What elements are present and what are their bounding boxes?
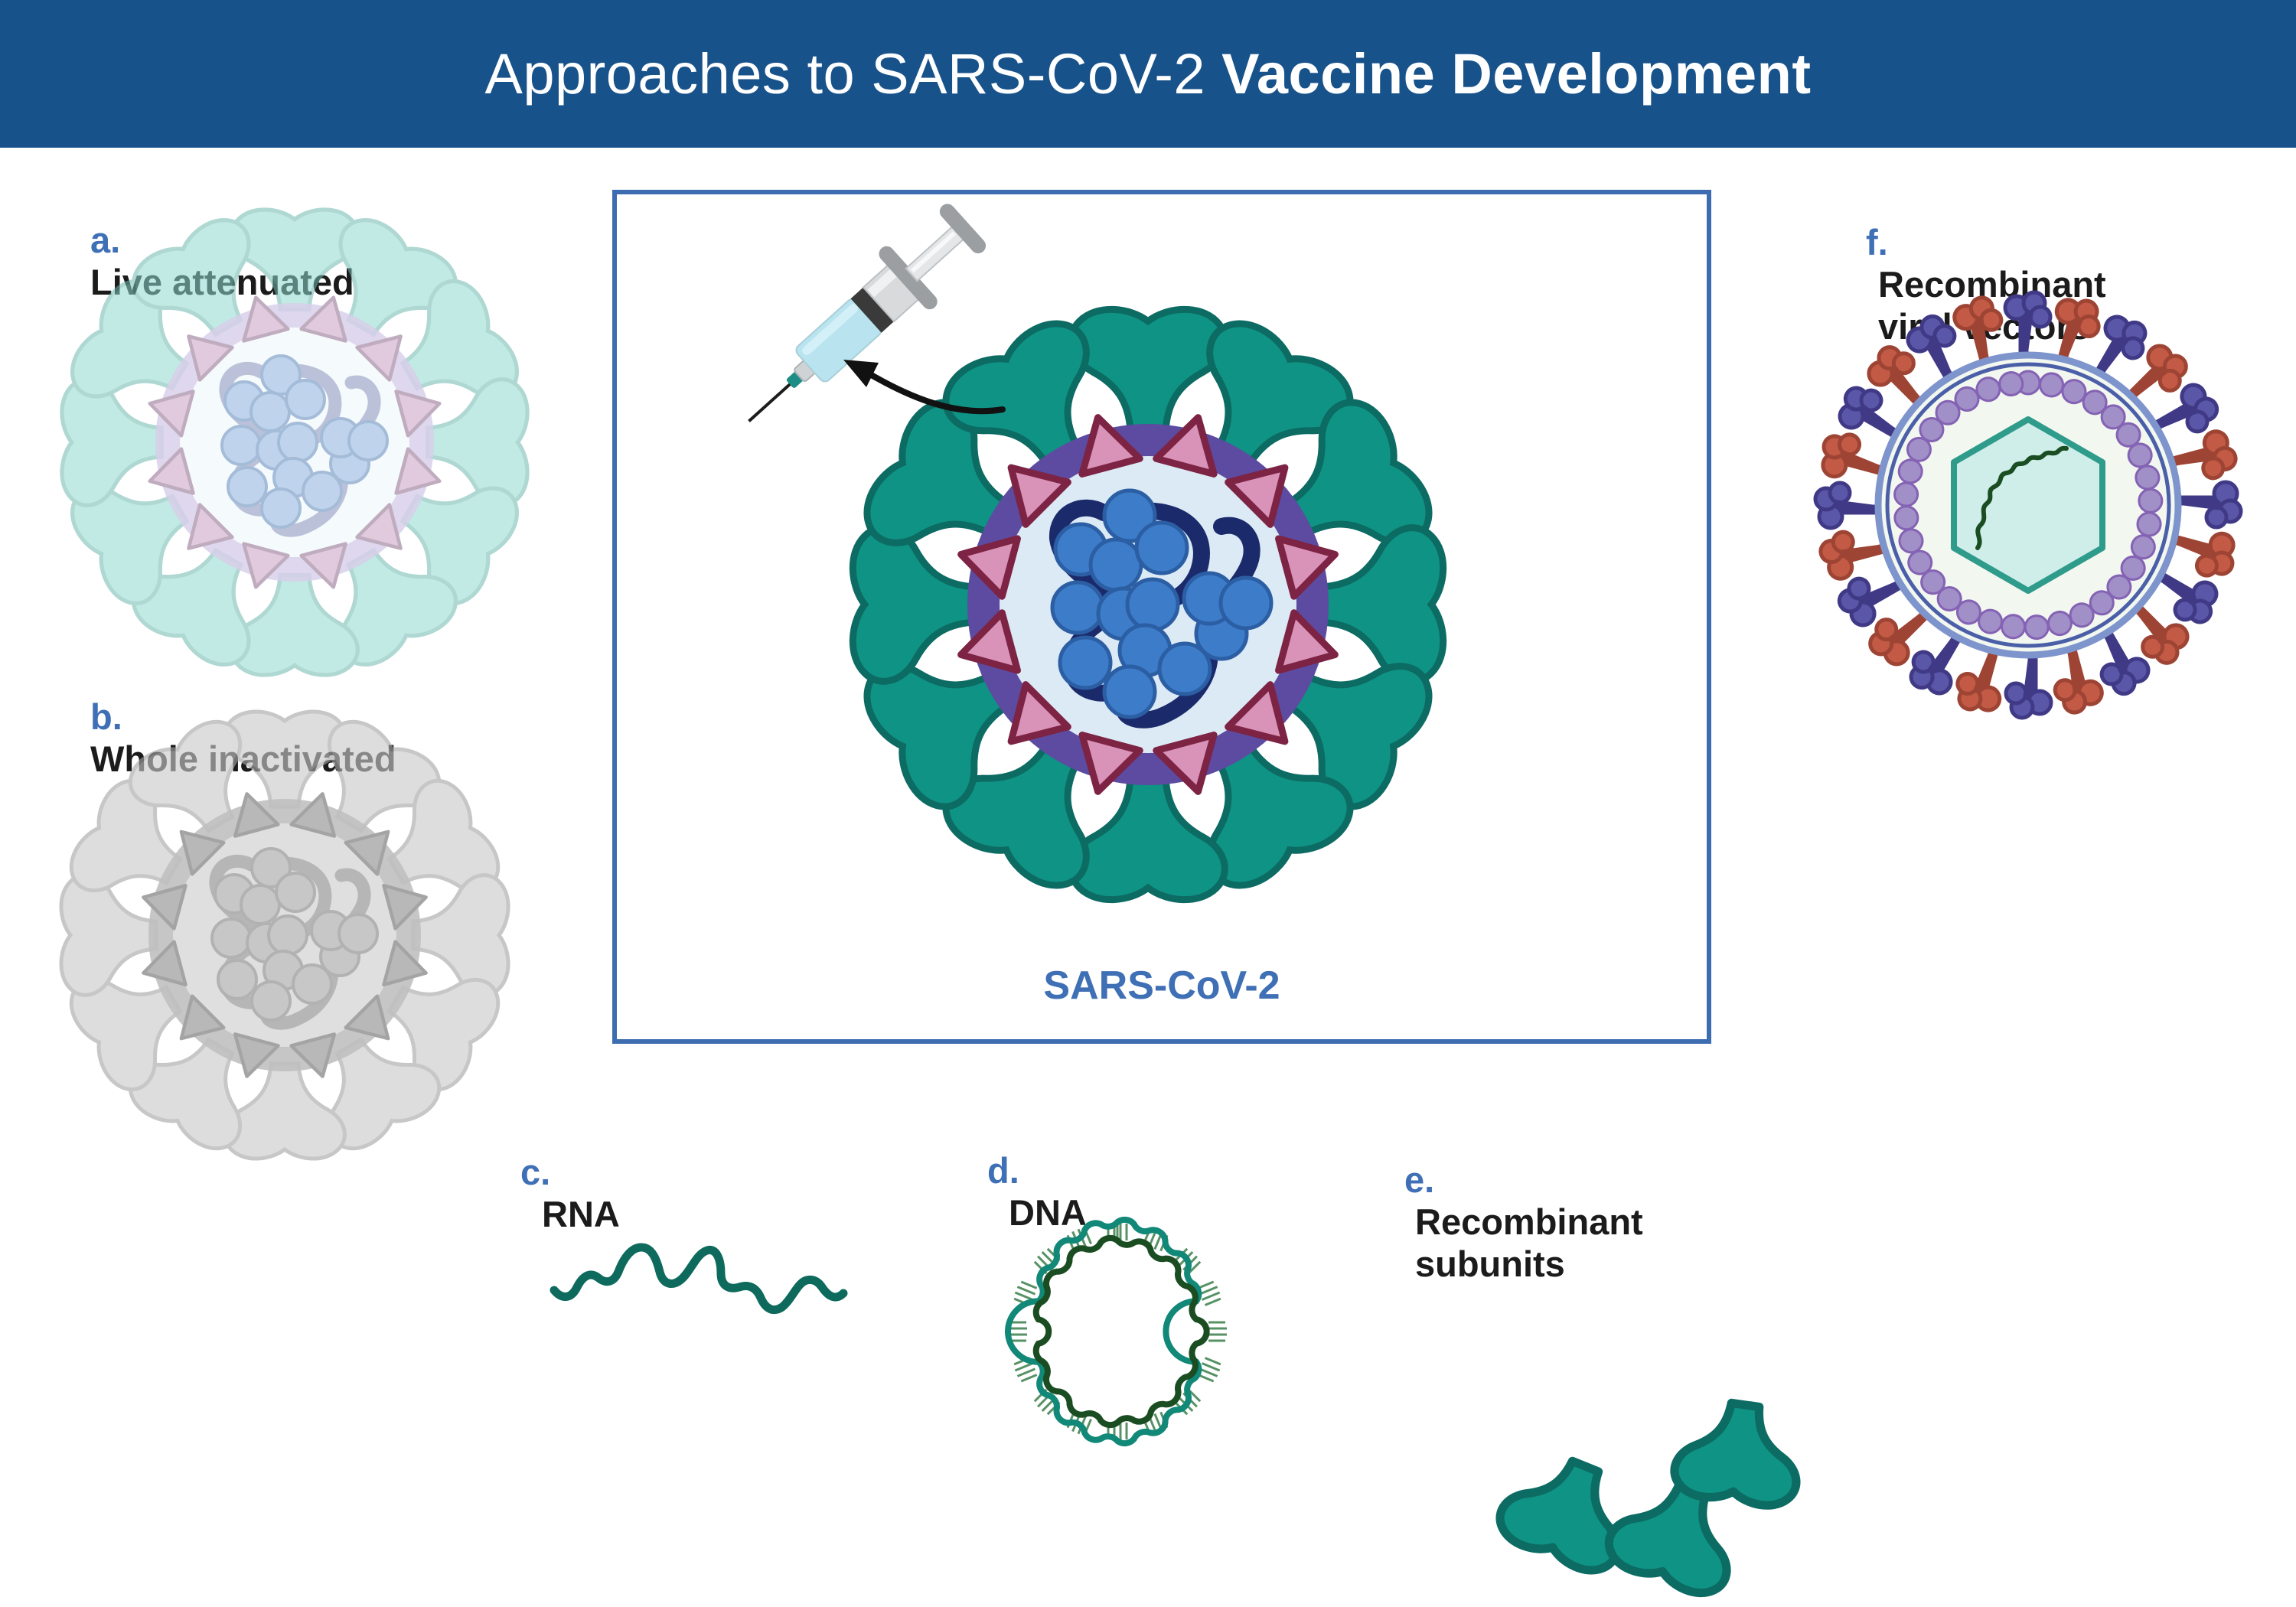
title-regular: Approaches to SARS-CoV-2 [484, 41, 1205, 106]
recombinant-viral-vector-particle [1814, 291, 2242, 719]
panel-letter-f: f. [1866, 222, 1888, 262]
inactivated-virion [84, 735, 482, 1117]
page-title: Approaches to SARS-CoV-2 Vaccine Develop… [0, 0, 2296, 148]
label-rna: c. RNA [520, 1110, 620, 1236]
figure-canvas: Approaches to SARS-CoV-2 Vaccine Develop… [0, 0, 2296, 1607]
rna-strand [551, 1240, 872, 1354]
panel-letter-b: b. [90, 696, 122, 737]
injection-arrow [796, 337, 1010, 444]
panel-letter-c: c. [520, 1152, 550, 1192]
title-bold: Vaccine Development [1221, 41, 1811, 106]
spike-protein-subunits [1439, 1217, 1791, 1538]
panel-text-c: RNA [542, 1194, 620, 1234]
attenuated-virion [77, 230, 505, 627]
panel-letter-e: e. [1404, 1159, 1434, 1200]
center-caption: SARS-CoV-2 [612, 963, 1711, 1009]
dna-plasmid-circle [980, 1194, 1255, 1469]
panel-letter-d: d. [987, 1150, 1019, 1191]
